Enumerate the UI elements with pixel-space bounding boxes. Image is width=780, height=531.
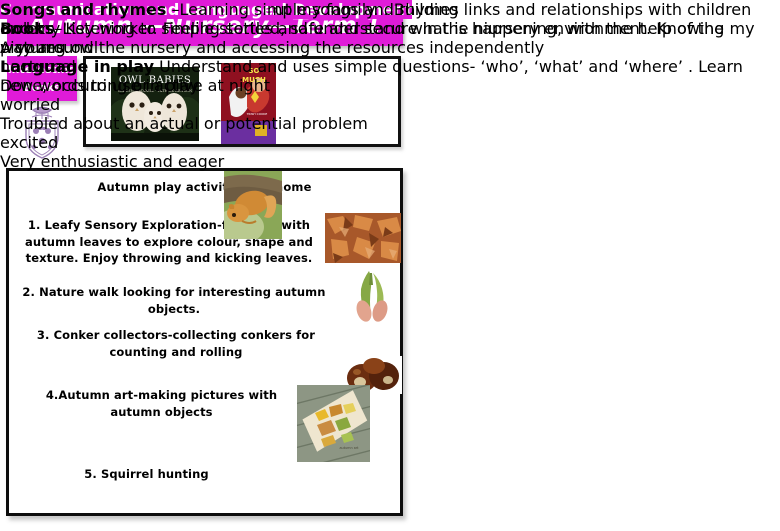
autumn-leaves-photo <box>325 213 401 263</box>
sycamore-seeds-photo <box>349 267 395 325</box>
communication-paragraph-lead: Language in play <box>0 57 154 76</box>
activity-list-item: 4.Autumn art-making pictures with autumn… <box>29 387 294 420</box>
activities-panel-title: Autumn play activities for home <box>9 180 400 194</box>
communication-language-body: Songs and rhymes –Learning simple songs … <box>0 0 780 95</box>
activity-list-item: 3. Conker collectors-collecting conkers … <box>21 327 331 360</box>
activity-list-item: 5. Squirrel hunting <box>29 466 264 483</box>
vocabulary-term: worried <box>0 95 368 114</box>
vocabulary-term: excited <box>0 133 368 152</box>
communication-paragraph-text: –Listening to simple stories and underst… <box>0 19 724 57</box>
table-row: worried Troubled about an actual or pote… <box>0 95 368 133</box>
table-row: excited Very enthusiastic and eager <box>0 133 368 171</box>
autumn-art-photo: autumn art <box>297 385 370 462</box>
communication-paragraph-lead: Songs and rhymes <box>0 0 166 19</box>
communication-paragraph: Songs and rhymes –Learning simple songs … <box>0 0 780 19</box>
autumn-activities-panel: Autumn play activities for home 1. Leafy… <box>6 168 403 516</box>
squirrel-photo <box>224 171 282 243</box>
communication-paragraph: Books–Listening to simple stories and un… <box>0 19 780 57</box>
communication-paragraph-text: –Learning simple songs and rhymes <box>166 0 458 19</box>
vocabulary-definition: Troubled about an actual or potential pr… <box>0 114 368 133</box>
communication-paragraph: Language in play Understand and uses sim… <box>0 57 780 95</box>
communication-paragraph-lead: Books <box>0 19 54 38</box>
activity-list-item: 2. Nature walk looking for interesting a… <box>19 284 329 317</box>
vocabulary-definition: Very enthusiastic and eager <box>0 152 368 171</box>
svg-text:autumn art: autumn art <box>339 446 359 450</box>
